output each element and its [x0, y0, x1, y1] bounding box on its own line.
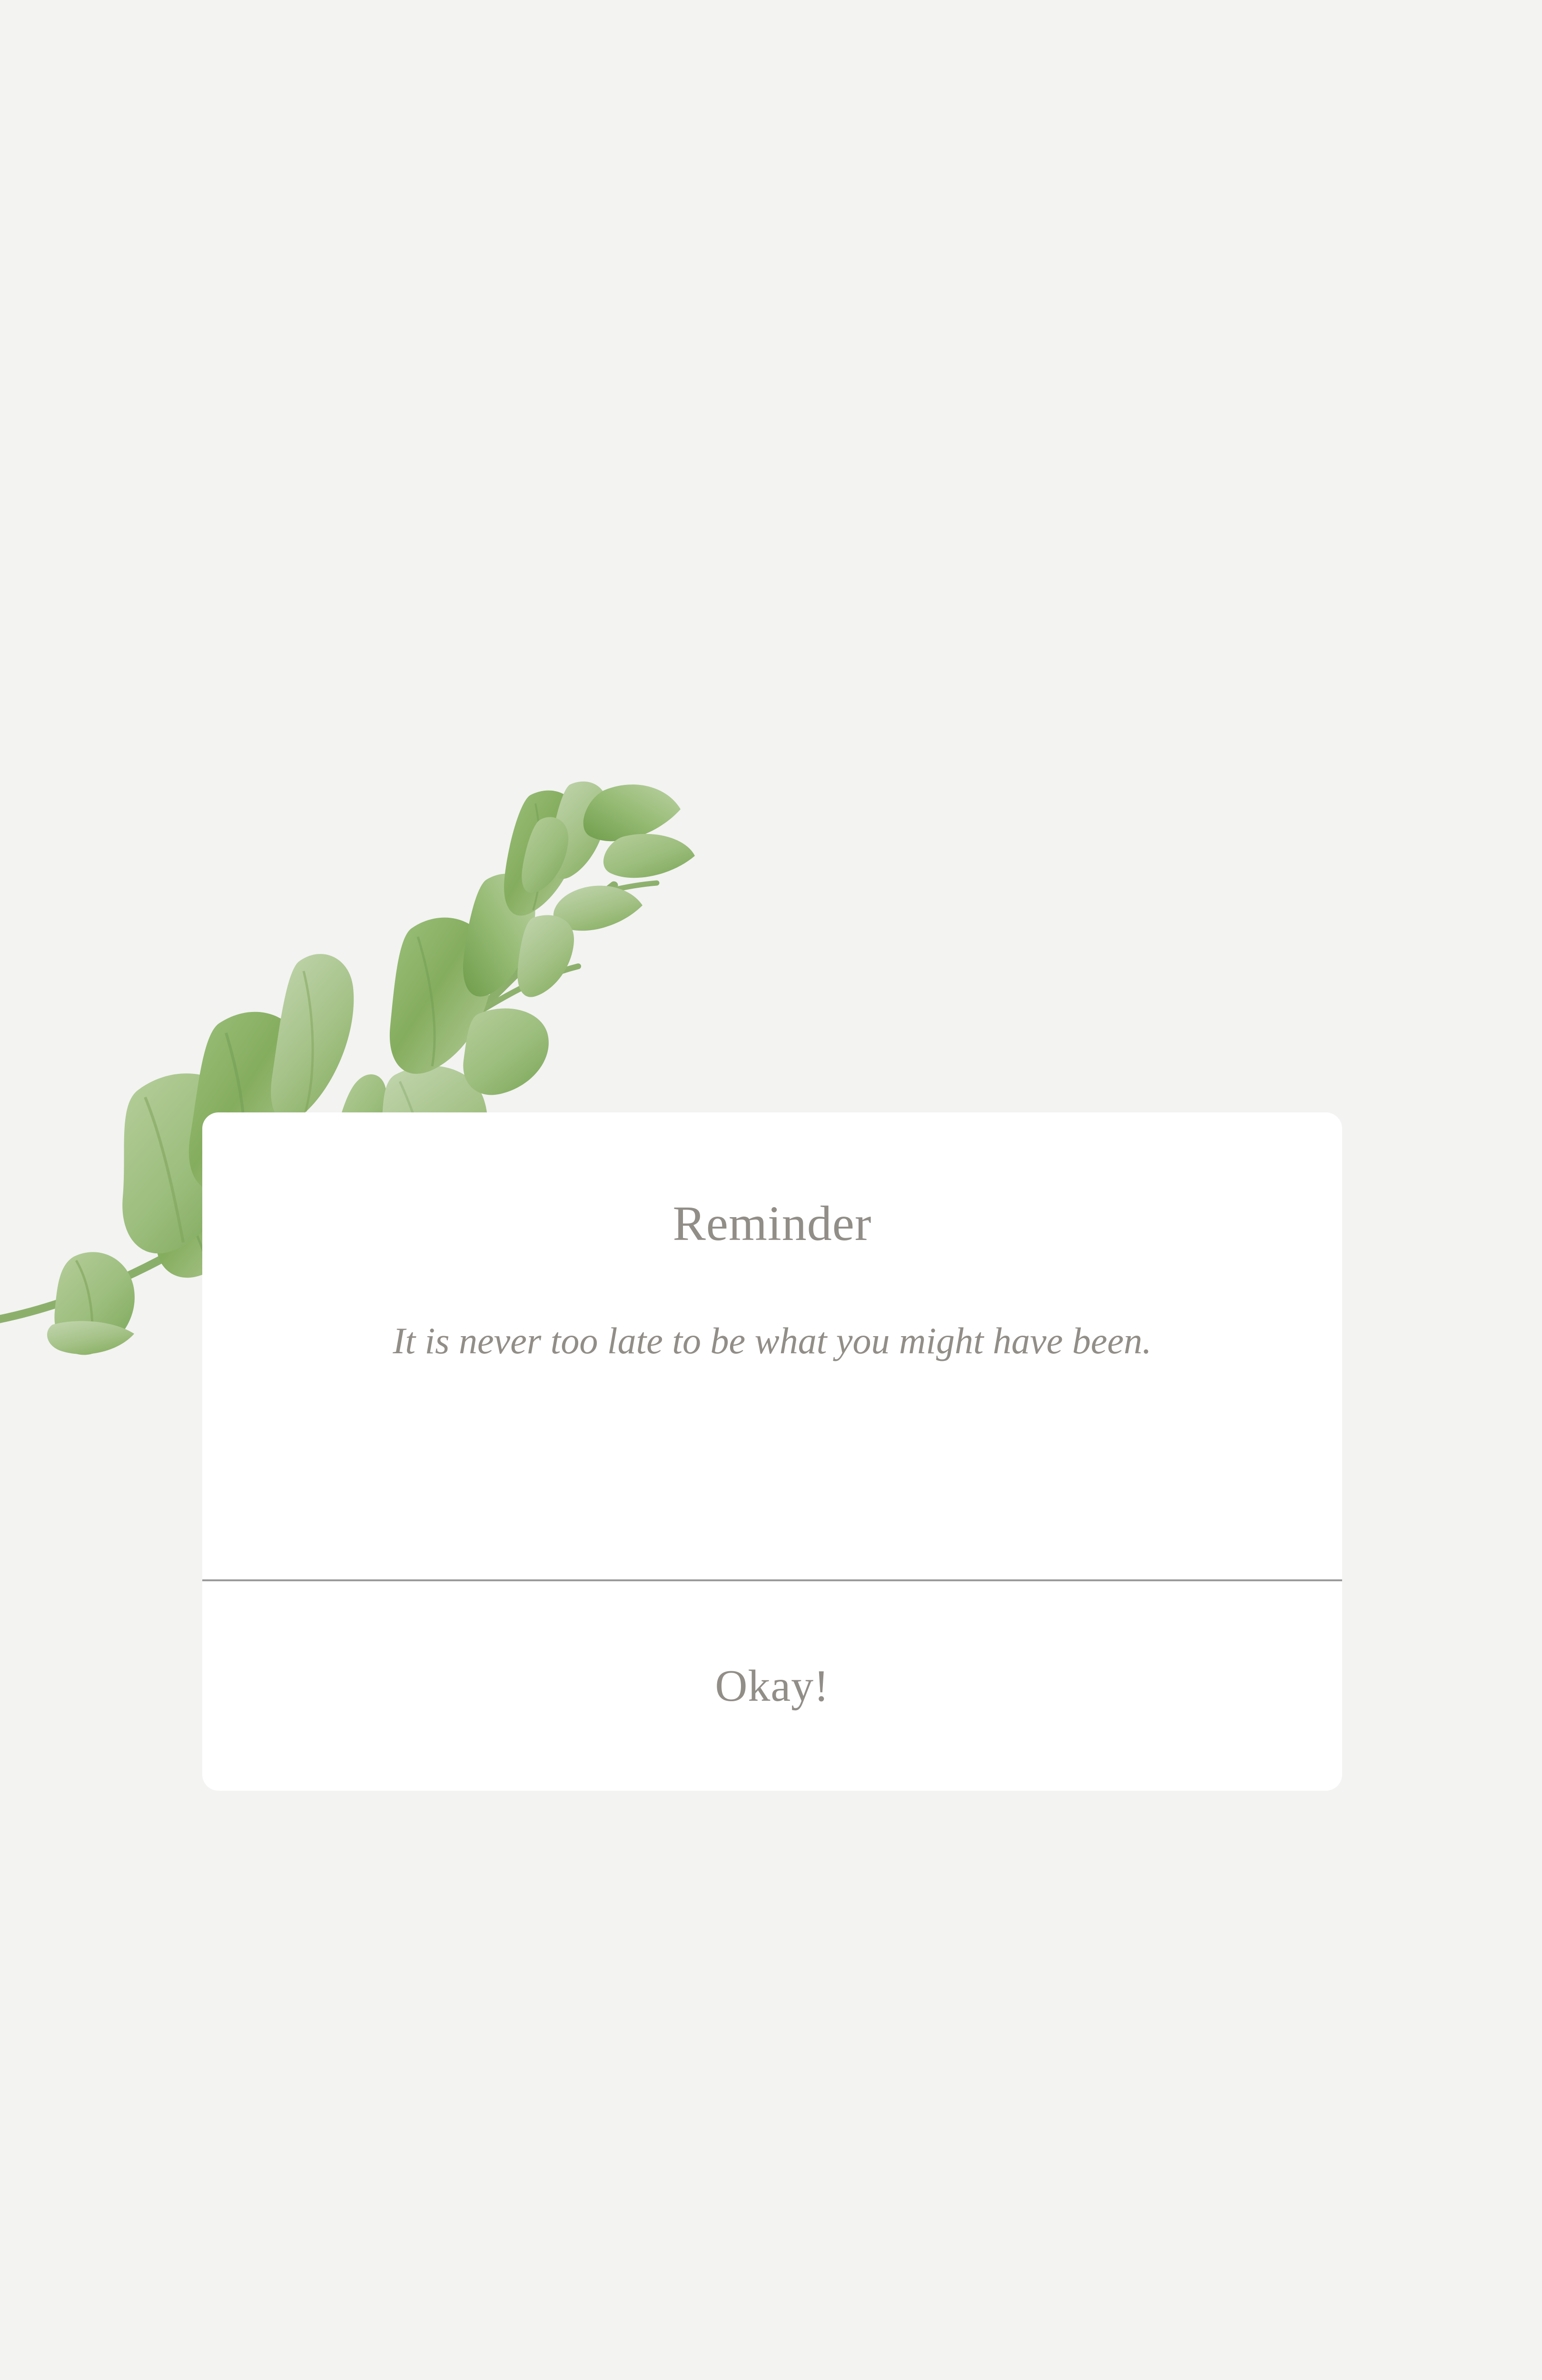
card-content-area: Reminder It is never too late to be what… — [202, 1112, 1342, 1579]
leaf — [522, 817, 568, 893]
leaf — [390, 918, 492, 1074]
leaf — [583, 784, 681, 841]
reminder-dialog-card: Reminder It is never too late to be what… — [202, 1112, 1342, 1791]
leaf — [47, 1321, 134, 1354]
leaf — [517, 915, 574, 997]
okay-button[interactable]: Okay! — [202, 1581, 1342, 1791]
card-message-text: It is never too late to be what you migh… — [299, 1315, 1246, 1368]
leaf — [463, 873, 535, 996]
okay-button-label: Okay! — [715, 1664, 830, 1708]
leaf — [554, 886, 642, 931]
card-title: Reminder — [672, 1199, 871, 1249]
screen-canvas: Reminder It is never too late to be what… — [0, 0, 1542, 2380]
leaf — [550, 782, 607, 879]
leaf — [463, 1009, 549, 1095]
leaf — [504, 791, 580, 916]
leaf — [54, 1252, 134, 1355]
leaf — [271, 954, 354, 1122]
leaf — [603, 834, 695, 878]
